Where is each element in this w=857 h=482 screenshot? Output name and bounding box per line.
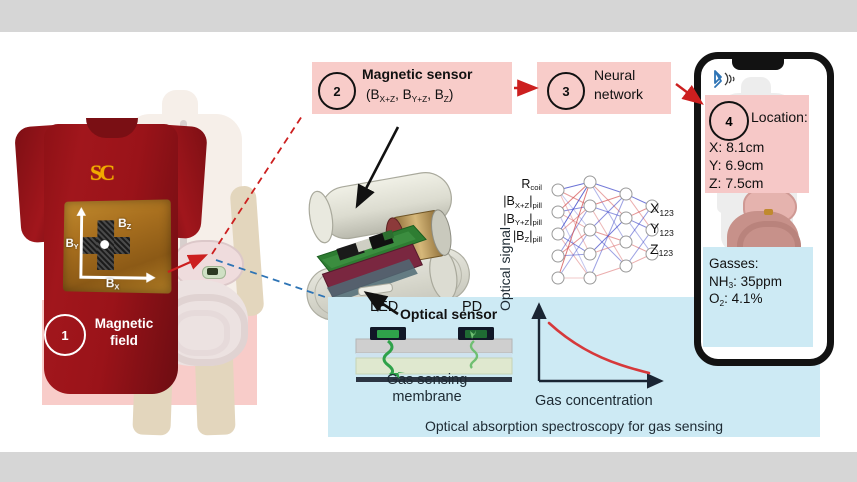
gas-o2: O2: 4.1% xyxy=(709,290,782,308)
axis-x-arrowhead xyxy=(146,273,155,283)
location-values: X: 8.1cm Y: 6.9cm Z: 7.5cm xyxy=(709,139,764,193)
coil-center-dot xyxy=(100,240,109,249)
step-4-badge: 4 xyxy=(709,101,749,141)
membrane-label: Gas sensing membrane xyxy=(352,372,502,407)
step-2-title: Magnetic sensor xyxy=(362,67,472,83)
step-2-badge: 2 xyxy=(318,72,356,110)
location-x: X: 8.1cm xyxy=(709,139,764,157)
nn-input-2: |BY+Z|pill xyxy=(470,211,542,228)
step-3-badge: 3 xyxy=(547,72,585,110)
axis-label-by: BY xyxy=(65,236,78,250)
axis-label-bx: BX xyxy=(106,276,120,290)
axis-y-arrowhead xyxy=(76,207,86,216)
gas-title: Gasses: xyxy=(709,255,782,273)
figure-canvas: SC BY BX BZ xyxy=(0,32,857,452)
smart-shirt: SC BY BX BZ xyxy=(18,102,204,407)
step-1-label: Magnetic field xyxy=(88,316,160,350)
smartphone-display[interactable]: 4 Location: X: 8.1cm Y: 6.9cm Z: 7.5cm G… xyxy=(694,52,834,366)
led-label: LED xyxy=(370,299,398,315)
location-title: Location: xyxy=(751,109,808,125)
chart-y-axis-label: Optical signal xyxy=(497,227,513,311)
optical-sensor-callout-label: Optical sensor xyxy=(400,307,497,323)
step-3-title-line1: Neural xyxy=(594,68,635,84)
figure-stage: SC BY BX BZ xyxy=(0,0,857,482)
nn-input-0: Rcoil xyxy=(470,176,542,193)
step-1-badge: 1 xyxy=(44,314,86,356)
nn-output-2: Z123 xyxy=(650,239,674,259)
step-3-title-line2: network xyxy=(594,87,643,103)
chart-x-axis-label: Gas concentration xyxy=(535,393,653,409)
nn-graph xyxy=(544,172,664,302)
nn-output-0: X123 xyxy=(650,198,674,218)
nn-input-1: |BX+Z|pill xyxy=(470,193,542,210)
coil-patch: BY BX BZ xyxy=(63,199,172,293)
chart-plot xyxy=(527,301,677,397)
gas-values: Gasses: NH3: 35ppm O2: 4.1% xyxy=(709,255,782,308)
axis-label-bz: BZ xyxy=(118,216,131,230)
phone-screen: 4 Location: X: 8.1cm Y: 6.9cm Z: 7.5cm G… xyxy=(701,59,813,347)
optical-panel-caption: Optical absorption spectroscopy for gas … xyxy=(328,418,820,434)
step-2-subtitle: (BX+Z, BY+Z, BZ) xyxy=(366,87,453,102)
bluetooth-icon xyxy=(707,69,741,89)
gas-nh3: NH3: 35ppm xyxy=(709,273,782,291)
nn-output-labels: X123 Y123 Z123 xyxy=(650,198,674,259)
optical-signal-chart: Optical signal Gas concentration xyxy=(503,301,693,413)
usc-logo: SC xyxy=(90,160,112,186)
nn-output-1: Y123 xyxy=(650,218,674,238)
location-y: Y: 6.9cm xyxy=(709,157,764,175)
location-z: Z: 7.5cm xyxy=(709,175,764,193)
